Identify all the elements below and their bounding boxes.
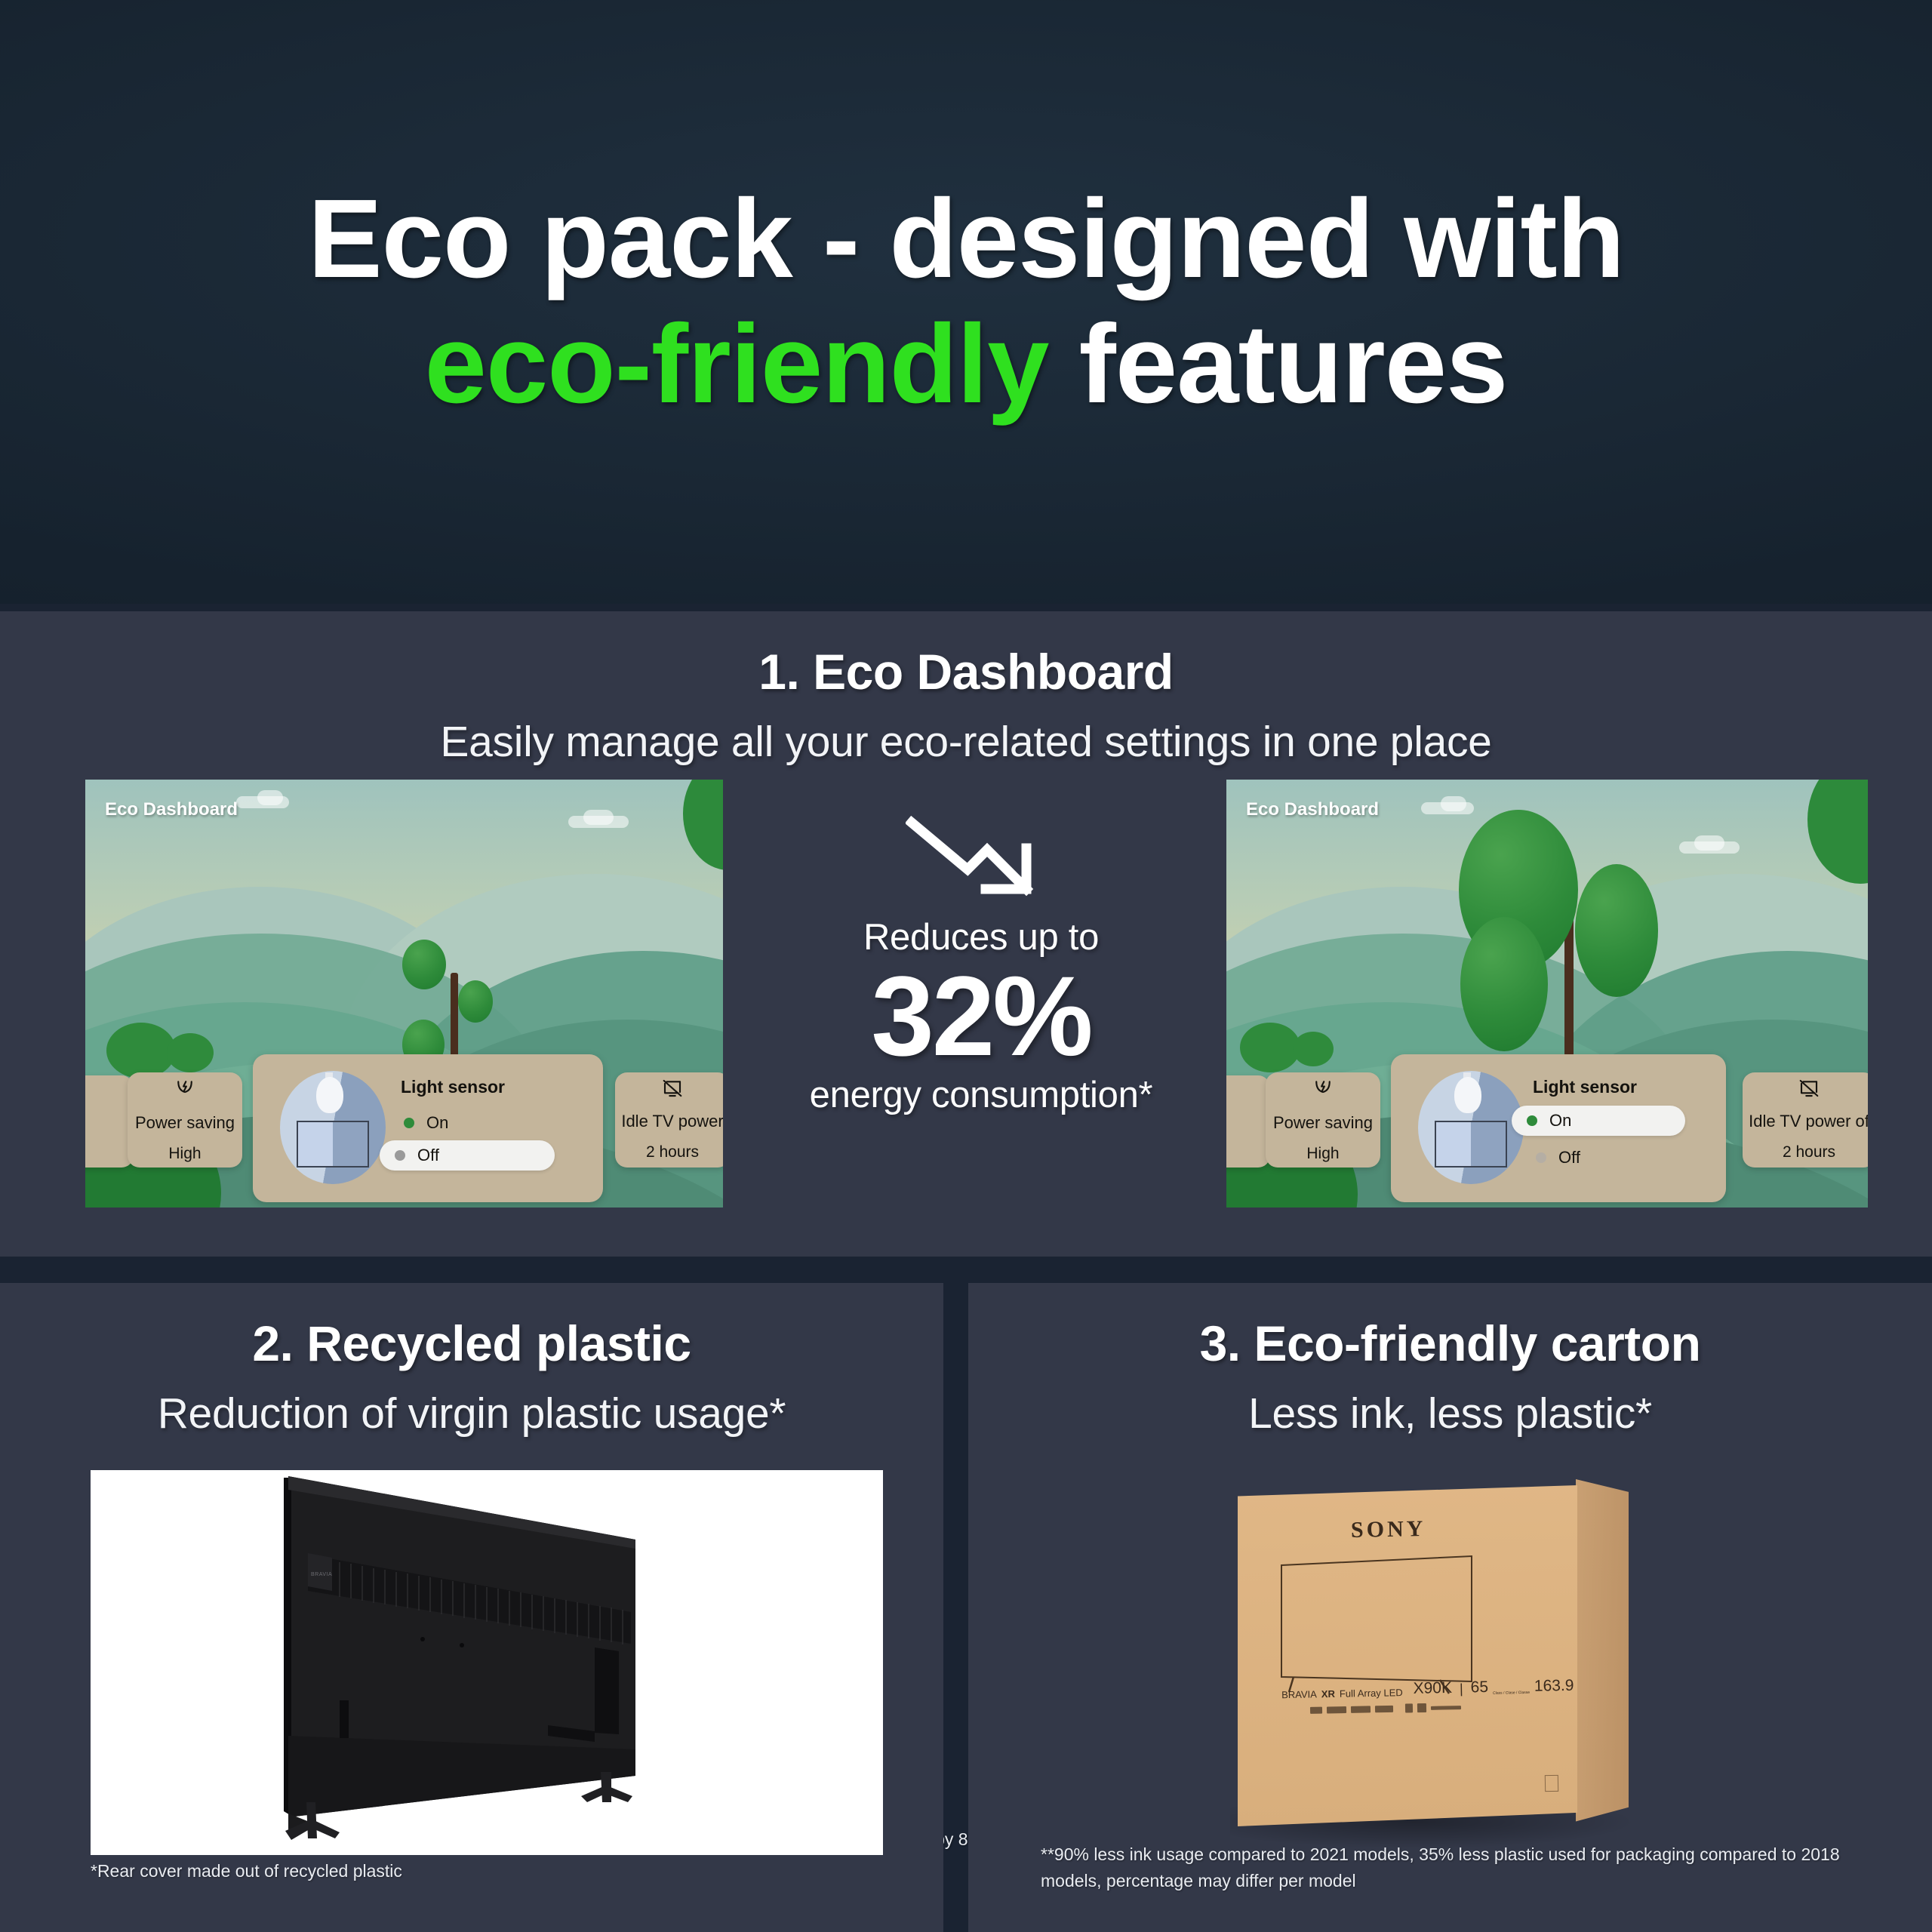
dolby-atmos-badge-icon xyxy=(1351,1706,1371,1712)
light-bulb-illustration xyxy=(280,1071,386,1184)
hero-rest-text: features xyxy=(1048,302,1507,426)
tv-off-icon xyxy=(661,1078,684,1103)
qr-code-icon xyxy=(1417,1703,1426,1712)
hero-title-line-1: Eco pack - designed with xyxy=(308,177,1624,302)
tree-leaf xyxy=(402,940,446,989)
energy-leaf-icon xyxy=(1312,1077,1334,1104)
dashboard-card-clipped[interactable] xyxy=(85,1075,134,1168)
carton-certification-badges xyxy=(1310,1703,1461,1715)
idle-tv-power-card[interactable]: Idle TV power of 2 hours xyxy=(1743,1072,1868,1168)
light-sensor-title: Light sensor xyxy=(1533,1077,1637,1097)
bulb-icon xyxy=(1454,1077,1481,1113)
carton-tv-outline-graphic xyxy=(1277,1552,1496,1695)
power-saving-card[interactable]: Power saving High xyxy=(128,1072,242,1168)
idle-tv-power-card[interactable]: Idle TV power 2 hours xyxy=(615,1072,723,1168)
eco-dashboard-label: Eco Dashboard xyxy=(105,799,238,820)
section-1-subtitle: Easily manage all your eco-related setti… xyxy=(0,717,1932,767)
power-saving-card[interactable]: Power saving High xyxy=(1266,1072,1380,1168)
carton-divider: | xyxy=(1460,1681,1463,1697)
dashboard-card-clipped[interactable] xyxy=(1226,1075,1270,1168)
option-on-label: On xyxy=(1549,1111,1571,1131)
bush-shape xyxy=(1240,1023,1300,1072)
option-off-label: Off xyxy=(417,1146,439,1165)
tv-panel-shape xyxy=(297,1121,369,1168)
idle-tv-power-label: Idle TV power xyxy=(621,1112,723,1131)
hero-title-line-2: eco-friendly features xyxy=(425,302,1508,427)
cloud-icon xyxy=(257,790,283,805)
power-saving-value: High xyxy=(168,1145,201,1163)
power-saving-label: Power saving xyxy=(135,1113,235,1133)
hero-banner: Eco pack - designed with eco-friendly fe… xyxy=(0,0,1932,604)
power-saving-value: High xyxy=(1306,1145,1339,1163)
tree-leaf xyxy=(1575,864,1658,997)
radio-dot-off-icon xyxy=(1536,1152,1546,1163)
tv-rear-illustration: BRAVIA xyxy=(91,1470,883,1855)
light-sensor-option-off[interactable]: Off xyxy=(380,1140,555,1171)
power-saving-label: Power saving xyxy=(1273,1113,1373,1133)
downward-trend-arrow-icon xyxy=(906,815,1057,906)
carton-front-face: SONY BRAVIA XR Full Array LED X90K | 65 … xyxy=(1238,1485,1577,1826)
cloud-icon xyxy=(583,810,614,825)
tv-panel-shape xyxy=(1435,1121,1507,1168)
eco-pack-infographic: Eco pack - designed with eco-friendly fe… xyxy=(0,0,1932,1932)
idle-tv-power-value: 2 hours xyxy=(1783,1143,1835,1161)
tv-rear-cover-photo: BRAVIA xyxy=(91,1470,883,1855)
xr-badge-icon xyxy=(1310,1706,1322,1713)
tv-off-icon xyxy=(1798,1078,1820,1103)
svg-text:BRAVIA: BRAVIA xyxy=(311,1572,332,1577)
light-sensor-card[interactable]: Light sensor On Off xyxy=(1391,1054,1726,1202)
section-3-title: 3. Eco-friendly carton xyxy=(968,1315,1932,1372)
bulb-icon xyxy=(316,1077,343,1113)
carton-size-inches: 65 xyxy=(1470,1678,1488,1697)
tree-leaf xyxy=(1460,917,1548,1051)
carton-model: X90K xyxy=(1413,1679,1452,1698)
section-2-title: 2. Recycled plastic xyxy=(0,1315,943,1372)
dolby-vision-badge-icon xyxy=(1327,1706,1346,1712)
section-2-subtitle: Reduction of virgin plastic usage* xyxy=(0,1389,943,1438)
carton-series-mark: XR xyxy=(1321,1688,1335,1700)
carton-size-qualifier: Class / Clase / Classe xyxy=(1493,1691,1530,1697)
cloud-icon xyxy=(1694,835,1724,851)
bush-shape xyxy=(106,1023,176,1078)
section-3-subtitle: Less ink, less plastic* xyxy=(968,1389,1932,1438)
eco-dashboard-screenshot-default: Eco Dashboard Power saving High Light se xyxy=(85,780,723,1207)
carton-panel-tech: Full Array LED xyxy=(1340,1687,1403,1700)
eco-dashboard-screenshot-optimized: Eco Dashboard Power saving High Light se… xyxy=(1226,780,1868,1207)
section-1-title: 1. Eco Dashboard xyxy=(0,643,1932,700)
light-sensor-option-on[interactable]: On xyxy=(1512,1106,1685,1136)
light-sensor-option-on[interactable]: On xyxy=(404,1113,448,1133)
tree-leaf xyxy=(458,980,493,1023)
idle-tv-power-value: 2 hours xyxy=(646,1143,699,1161)
radio-dot-on-icon xyxy=(404,1118,414,1128)
sony-logo: SONY xyxy=(1351,1516,1426,1543)
hero-accent-text: eco-friendly xyxy=(425,302,1049,426)
light-bulb-illustration xyxy=(1418,1071,1524,1184)
energy-leaf-icon xyxy=(174,1077,196,1104)
cloud-icon xyxy=(1441,796,1466,811)
section-2-footnote: *Rear cover made out of recycled plastic xyxy=(91,1858,883,1884)
radio-dot-on-icon xyxy=(1527,1115,1537,1126)
callout-bottom-text: energy consumption* xyxy=(777,1074,1185,1116)
qr-code-icon xyxy=(1405,1703,1413,1712)
idle-tv-power-label: Idle TV power of xyxy=(1749,1112,1868,1131)
light-sensor-option-off[interactable]: Off xyxy=(1536,1148,1580,1168)
callout-percentage: 32% xyxy=(777,958,1185,1074)
bush-shape xyxy=(1293,1032,1334,1066)
carton-fineprint xyxy=(1431,1706,1461,1710)
light-sensor-title: Light sensor xyxy=(401,1077,505,1097)
energy-reduction-callout: Reduces up to 32% energy consumption* xyxy=(777,815,1185,1116)
radio-dot-off-icon xyxy=(395,1150,405,1161)
eco-carton-photo: SONY BRAVIA XR Full Array LED X90K | 65 … xyxy=(1207,1479,1826,1857)
carton-side-face xyxy=(1576,1479,1629,1834)
recycle-mark-icon xyxy=(1545,1775,1558,1792)
google-tv-badge-icon xyxy=(1375,1705,1393,1712)
option-on-label: On xyxy=(426,1113,448,1133)
carton-series: BRAVIA xyxy=(1281,1688,1317,1700)
option-off-label: Off xyxy=(1558,1148,1580,1168)
light-sensor-card[interactable]: Light sensor On Off xyxy=(253,1054,603,1202)
eco-dashboard-label: Eco Dashboard xyxy=(1246,799,1379,820)
bush-shape xyxy=(167,1033,214,1072)
